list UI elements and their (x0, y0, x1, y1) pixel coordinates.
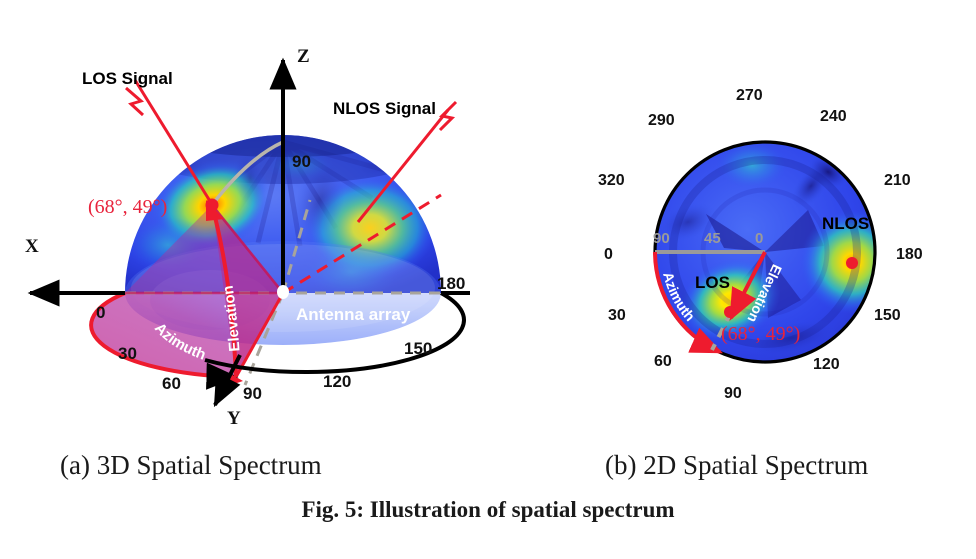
tick2-0: 0 (604, 246, 613, 263)
tick2-60: 60 (654, 353, 672, 370)
label-los-2d: LOS (695, 273, 730, 292)
tick2-120: 120 (813, 356, 840, 373)
axis-label-y: Y (227, 408, 241, 429)
tick2-270: 270 (736, 87, 763, 104)
panel-3d-spatial-spectrum: X Z Y 0 30 60 90 120 150 180 90 Azimuth … (0, 0, 500, 440)
los-peak-marker-2d (724, 306, 736, 318)
label-nlos-signal: NLOS Signal (333, 99, 436, 118)
tick2-210: 210 (884, 172, 911, 189)
label-antenna-array: Antenna array (296, 305, 411, 324)
annotation-angle-2d: (68°, 49°) (721, 323, 800, 345)
axis-label-z: Z (297, 46, 310, 67)
tick2-180: 180 (896, 246, 923, 263)
tick2-90: 90 (724, 385, 742, 402)
label-los-signal: LOS Signal (82, 69, 173, 88)
label-nlos-2d: NLOS (822, 214, 869, 233)
tick-azimuth-0: 0 (96, 303, 105, 322)
tick-azimuth-30: 30 (118, 344, 137, 363)
tick2-320: 320 (598, 172, 625, 189)
tick2-30: 30 (608, 307, 626, 324)
tick2-150: 150 (874, 307, 901, 324)
tick-azimuth-120: 120 (323, 372, 351, 391)
annotation-angle-3d: (68°, 49°) (88, 196, 167, 218)
nlos-peak-marker-2d (846, 257, 858, 269)
tick2-290: 290 (648, 112, 675, 129)
figure-caption: Fig. 5: Illustration of spatial spectrum (0, 497, 976, 523)
radial-tick-45: 45 (704, 230, 721, 247)
panel-2d-spatial-spectrum: 90 45 0 Azimuth Elevation LOS NLOS (68°,… (556, 0, 976, 440)
tick-azimuth-90: 90 (243, 384, 262, 403)
tick-elevation-90: 90 (292, 152, 311, 171)
tick-azimuth-150: 150 (404, 339, 432, 358)
los-peak-marker-3d (206, 199, 219, 212)
axis-label-x: X (25, 236, 39, 257)
tick-azimuth-60: 60 (162, 374, 181, 393)
tick-azimuth-180: 180 (437, 274, 465, 293)
radial-tick-90: 90 (653, 230, 670, 247)
figure-spatial-spectrum: X Z Y 0 30 60 90 120 150 180 90 Azimuth … (0, 0, 976, 559)
subcaption-panel-b: (b) 2D Spatial Spectrum (605, 450, 868, 481)
radial-tick-0: 0 (755, 230, 763, 247)
subcaption-panel-a: (a) 3D Spatial Spectrum (60, 450, 322, 481)
antenna-array-origin-marker (277, 285, 289, 299)
tick2-240: 240 (820, 108, 847, 125)
